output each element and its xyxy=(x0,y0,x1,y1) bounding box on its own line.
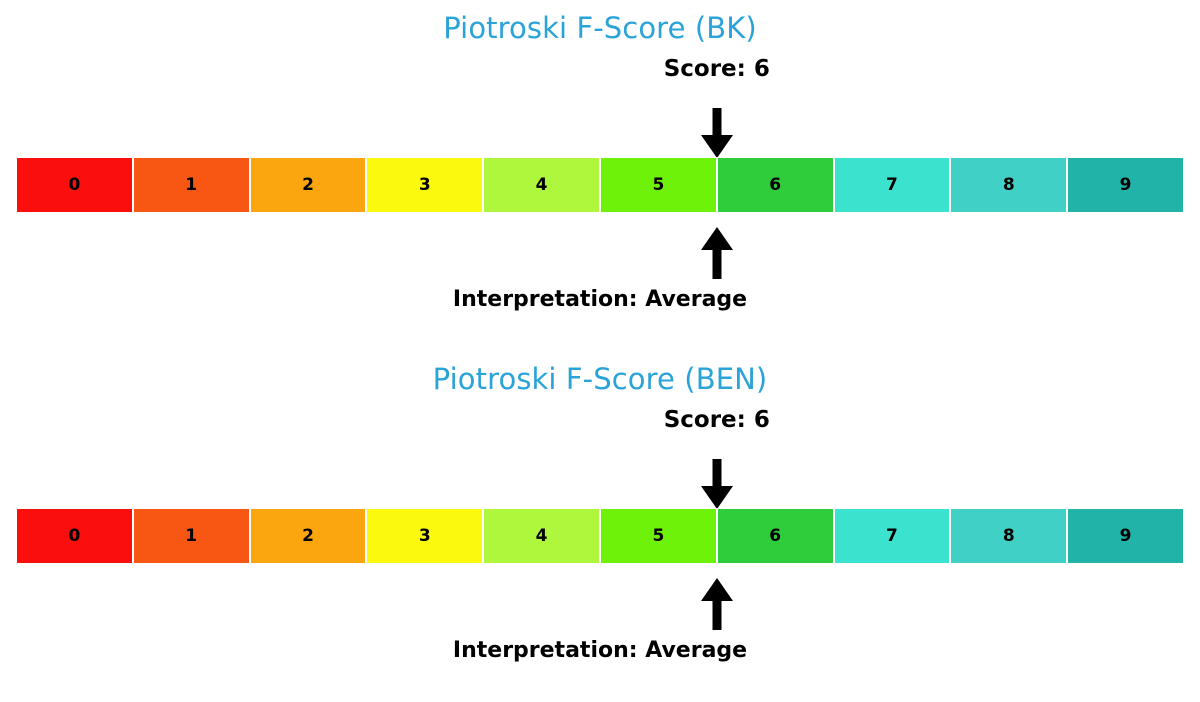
fscore-panel-ben: Piotroski F-Score (BEN) Score: 6 0123456… xyxy=(0,351,1200,702)
scale-cell-label: 8 xyxy=(1003,177,1015,194)
scale-cell-label: 5 xyxy=(652,528,664,545)
scale-cell-label: 3 xyxy=(419,177,431,194)
scale-cell-label: 0 xyxy=(68,528,80,545)
score-badge: Score: 6 xyxy=(664,58,770,81)
arrow-shaft xyxy=(712,600,721,630)
scale-cell-4[interactable]: 4 xyxy=(483,157,600,213)
up-arrow-icon xyxy=(700,578,734,630)
down-arrow-icon xyxy=(700,108,734,157)
scale-cell-5[interactable]: 5 xyxy=(600,508,717,564)
arrow-head xyxy=(701,486,733,509)
fscore-panel-bk: Piotroski F-Score (BK) Score: 6 01234567… xyxy=(0,0,1200,351)
scale-cell-label: 7 xyxy=(886,177,898,194)
scale-cell-9[interactable]: 9 xyxy=(1067,508,1184,564)
scale-cell-label: 6 xyxy=(769,528,781,545)
arrow-shaft xyxy=(712,249,721,279)
arrow-head xyxy=(701,135,733,158)
page-title: Piotroski F-Score (BK) xyxy=(0,14,1200,43)
scale-cell-4[interactable]: 4 xyxy=(483,508,600,564)
scale-cell-label: 2 xyxy=(302,177,314,194)
piotroski-fscore-page: { "page": { "background": "#ffffff", "ti… xyxy=(0,0,1200,702)
arrow-head xyxy=(701,578,733,601)
scale-cell-label: 1 xyxy=(185,177,197,194)
scale-cell-label: 2 xyxy=(302,528,314,545)
scale-cell-label: 6 xyxy=(769,177,781,194)
scale-cell-1[interactable]: 1 xyxy=(133,157,250,213)
scale-cell-9[interactable]: 9 xyxy=(1067,157,1184,213)
scale-cell-label: 1 xyxy=(185,528,197,545)
scale-cell-label: 8 xyxy=(1003,528,1015,545)
scale-cell-6[interactable]: 6 xyxy=(717,157,834,213)
scale-cell-8[interactable]: 8 xyxy=(950,508,1067,564)
scale-cell-label: 3 xyxy=(419,528,431,545)
score-scale-bar: 0123456789 xyxy=(16,508,1184,564)
scale-cell-label: 7 xyxy=(886,528,898,545)
scale-cell-3[interactable]: 3 xyxy=(366,157,483,213)
scale-cell-0[interactable]: 0 xyxy=(16,508,133,564)
scale-cell-1[interactable]: 1 xyxy=(133,508,250,564)
score-scale-bar: 0123456789 xyxy=(16,157,1184,213)
down-arrow-icon xyxy=(700,459,734,508)
scale-cell-label: 4 xyxy=(536,177,548,194)
scale-cell-0[interactable]: 0 xyxy=(16,157,133,213)
interpretation-label: Interpretation: Average xyxy=(0,289,1200,311)
scale-cell-label: 9 xyxy=(1120,528,1132,545)
scale-cell-2[interactable]: 2 xyxy=(250,157,367,213)
interpretation-label: Interpretation: Average xyxy=(0,640,1200,662)
up-arrow-icon xyxy=(700,227,734,279)
scale-cell-8[interactable]: 8 xyxy=(950,157,1067,213)
scale-cell-7[interactable]: 7 xyxy=(834,508,951,564)
scale-cell-label: 4 xyxy=(536,528,548,545)
arrow-shaft xyxy=(712,459,721,487)
scale-cell-label: 9 xyxy=(1120,177,1132,194)
arrow-shaft xyxy=(712,108,721,136)
scale-cell-label: 0 xyxy=(68,177,80,194)
scale-cell-6[interactable]: 6 xyxy=(717,508,834,564)
scale-cell-5[interactable]: 5 xyxy=(600,157,717,213)
arrow-head xyxy=(701,227,733,250)
scale-cell-3[interactable]: 3 xyxy=(366,508,483,564)
scale-cell-label: 5 xyxy=(652,177,664,194)
score-badge: Score: 6 xyxy=(664,409,770,432)
scale-cell-7[interactable]: 7 xyxy=(834,157,951,213)
scale-cell-2[interactable]: 2 xyxy=(250,508,367,564)
page-title: Piotroski F-Score (BEN) xyxy=(0,365,1200,394)
